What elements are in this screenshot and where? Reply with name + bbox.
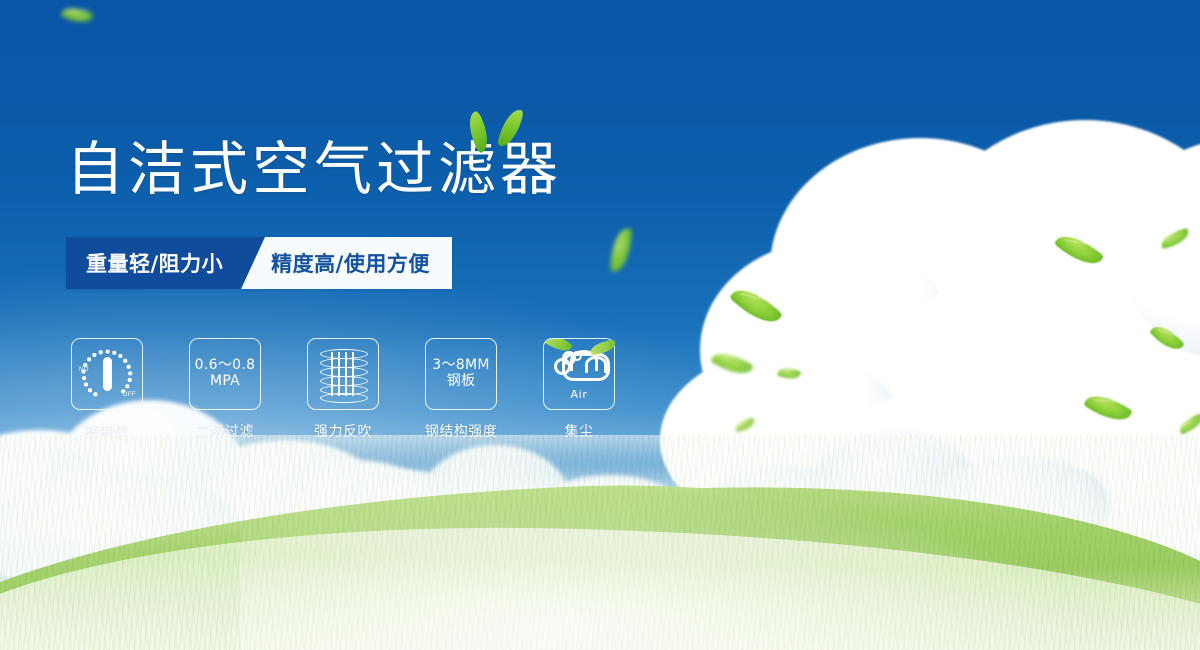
slogan-secondary: 精度高/使用方便 — [265, 237, 452, 289]
feature-icon-box: 3～8MM 钢板 — [425, 338, 497, 410]
feature-item-dust[interactable]: Air 集尘 — [542, 338, 616, 441]
feature-icon-box: 0.6～0.8 MPA — [189, 338, 261, 410]
filter-stack-icon — [320, 349, 366, 399]
feature-item-blowback[interactable]: 强力反吹 — [306, 338, 380, 441]
product-banner: 自洁式空气过滤器 重量轻/阻力小 精度高/使用方便 — [0, 0, 1200, 650]
steel-value-line1: 3～8MM — [432, 358, 489, 374]
feature-list: NO OFF 控制仪 0.6～0.8 MPA 二级过滤 — [70, 338, 616, 441]
feature-icon-box: NO OFF — [71, 338, 143, 410]
slogan-bar: 重量轻/阻力小 精度高/使用方便 — [66, 237, 452, 289]
grass-highlight — [240, 480, 1140, 650]
feature-icon-box — [307, 338, 379, 410]
headline-block: 自洁式空气过滤器 — [66, 140, 562, 199]
feature-item-pressure[interactable]: 0.6～0.8 MPA 二级过滤 — [188, 338, 262, 441]
feature-item-controller[interactable]: NO OFF 控制仪 — [70, 338, 144, 441]
gauge-off-label: OFF — [123, 392, 136, 398]
steel-value-line2: 钢板 — [447, 374, 476, 390]
feature-item-steel[interactable]: 3～8MM 钢板 钢结构强度 — [424, 338, 498, 441]
air-icon-label: Air — [571, 389, 588, 401]
pressure-value-line2: MPA — [210, 374, 240, 390]
slogan-divider — [241, 237, 265, 289]
grass-field — [0, 435, 1200, 650]
slogan-primary: 重量轻/阻力小 — [66, 237, 241, 289]
pressure-value-line1: 0.6～0.8 — [195, 358, 256, 374]
sprout-leaves-icon — [464, 108, 536, 154]
gauge-icon: NO OFF — [80, 347, 134, 401]
gauge-on-label: NO — [79, 367, 89, 373]
